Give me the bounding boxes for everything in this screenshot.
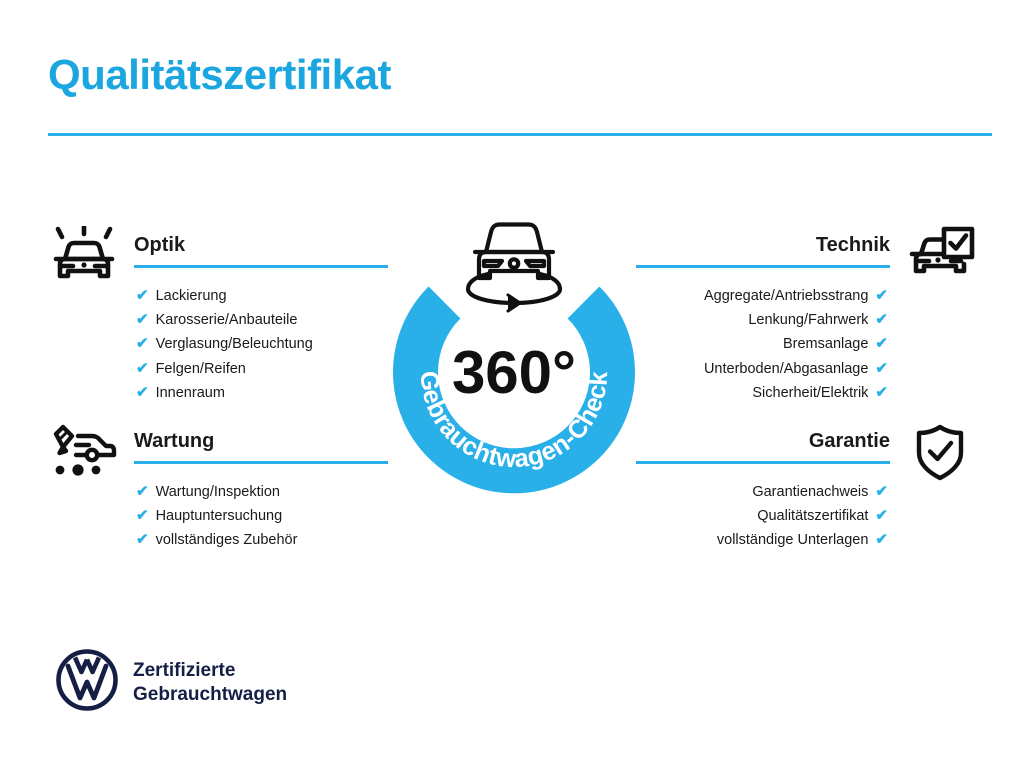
check-icon: ✔ bbox=[875, 504, 888, 528]
list-item: ✔Hauptuntersuchung bbox=[136, 504, 388, 528]
footer-line-2: Gebrauchtwagen bbox=[133, 684, 287, 705]
list-item-label: vollständige Unterlagen bbox=[717, 532, 869, 548]
footer-brand-text: Zertifizierte Gebrauchtwagen bbox=[133, 659, 287, 707]
check-icon: ✔ bbox=[875, 528, 888, 552]
section-technik-header: Technik bbox=[636, 232, 976, 272]
section-wartung-underline bbox=[134, 461, 388, 464]
section-optik-list: ✔Lackierung ✔Karosserie/Anbauteile ✔Verg… bbox=[48, 272, 388, 405]
list-item-label: Hauptuntersuchung bbox=[156, 508, 283, 524]
list-item: Garantienachweis✔ bbox=[636, 480, 888, 504]
check-icon: ✔ bbox=[136, 308, 149, 332]
page-title: Qualitätszertifikat bbox=[48, 52, 391, 98]
list-item: Bremsanlage✔ bbox=[636, 332, 888, 356]
list-item: Lenkung/Fahrwerk✔ bbox=[636, 308, 888, 332]
check-icon: ✔ bbox=[136, 332, 149, 356]
list-item-label: Unterboden/Abgasanlage bbox=[704, 361, 868, 377]
section-garantie-underline bbox=[636, 461, 890, 464]
section-optik-header: Optik bbox=[48, 232, 388, 272]
list-item: Aggregate/Antriebsstrang✔ bbox=[636, 284, 888, 308]
car-front-shine-icon bbox=[48, 226, 120, 291]
list-item: ✔Innenraum bbox=[136, 381, 388, 405]
list-item-label: Bremsanlage bbox=[783, 336, 868, 352]
list-item-label: Qualitätszertifikat bbox=[757, 508, 868, 524]
list-item: vollständige Unterlagen✔ bbox=[636, 528, 888, 552]
section-technik: Technik Aggregate/Antriebsstrang✔ Lenkun… bbox=[636, 232, 976, 405]
check-icon: ✔ bbox=[875, 332, 888, 356]
footer-brand: Zertifizierte Gebrauchtwagen bbox=[56, 649, 287, 716]
check-icon: ✔ bbox=[875, 357, 888, 381]
check-icon: ✔ bbox=[136, 528, 149, 552]
check-icon: ✔ bbox=[136, 284, 149, 308]
section-wartung: Wartung ✔Wartung/Inspektion ✔Hauptunters… bbox=[48, 428, 388, 553]
list-item: ✔Verglasung/Beleuchtung bbox=[136, 332, 388, 356]
list-item: ✔vollständiges Zubehör bbox=[136, 528, 388, 552]
list-item: Sicherheit/Elektrik✔ bbox=[636, 381, 888, 405]
check-icon: ✔ bbox=[136, 381, 149, 405]
check-icon: ✔ bbox=[136, 504, 149, 528]
section-technik-underline bbox=[636, 265, 890, 268]
car-front-checkbox-icon bbox=[904, 226, 976, 291]
list-item: Qualitätszertifikat✔ bbox=[636, 504, 888, 528]
list-item-label: vollständiges Zubehör bbox=[156, 532, 298, 548]
list-item-label: Lackierung bbox=[156, 288, 227, 304]
certificate-page: Qualitätszertifikat Optik bbox=[0, 0, 1024, 768]
list-item: ✔Felgen/Reifen bbox=[136, 357, 388, 381]
list-item-label: Karosserie/Anbauteile bbox=[156, 312, 298, 328]
list-item-label: Wartung/Inspektion bbox=[156, 484, 280, 500]
list-item-label: Lenkung/Fahrwerk bbox=[748, 312, 868, 328]
car-front-rotation-icon bbox=[468, 225, 560, 312]
section-optik-underline bbox=[134, 265, 388, 268]
list-item: Unterboden/Abgasanlage✔ bbox=[636, 357, 888, 381]
check-icon: ✔ bbox=[875, 308, 888, 332]
header-divider bbox=[48, 133, 992, 136]
section-garantie: Garantie Garantienachweis✔ Qualitätszert… bbox=[636, 428, 976, 553]
list-item: ✔Lackierung bbox=[136, 284, 388, 308]
section-garantie-header: Garantie bbox=[636, 428, 976, 468]
list-item-label: Innenraum bbox=[156, 385, 225, 401]
check-icon: ✔ bbox=[136, 357, 149, 381]
volkswagen-logo bbox=[56, 649, 118, 716]
shield-check-icon bbox=[904, 424, 976, 489]
check-icon: ✔ bbox=[136, 480, 149, 504]
pencil-car-service-icon bbox=[48, 422, 120, 487]
list-item: ✔Karosserie/Anbauteile bbox=[136, 308, 388, 332]
section-technik-list: Aggregate/Antriebsstrang✔ Lenkung/Fahrwe… bbox=[636, 272, 976, 405]
section-optik: Optik ✔Lackierung ✔Karosserie/Anbauteile… bbox=[48, 232, 388, 405]
list-item-label: Aggregate/Antriebsstrang bbox=[704, 288, 868, 304]
section-wartung-header: Wartung bbox=[48, 428, 388, 468]
list-item: ✔Wartung/Inspektion bbox=[136, 480, 388, 504]
check-icon: ✔ bbox=[875, 480, 888, 504]
list-item-label: Felgen/Reifen bbox=[156, 361, 246, 377]
list-item-label: Verglasung/Beleuchtung bbox=[156, 336, 313, 352]
check-icon: ✔ bbox=[875, 284, 888, 308]
list-item-label: Sicherheit/Elektrik bbox=[752, 385, 868, 401]
footer-line-1: Zertifizierte bbox=[133, 660, 235, 681]
360-check-badge: 360° Gebrauchtwagen-Check bbox=[378, 196, 650, 496]
list-item-label: Garantienachweis bbox=[752, 484, 868, 500]
check-icon: ✔ bbox=[875, 381, 888, 405]
badge-degrees: 360° bbox=[452, 339, 576, 406]
